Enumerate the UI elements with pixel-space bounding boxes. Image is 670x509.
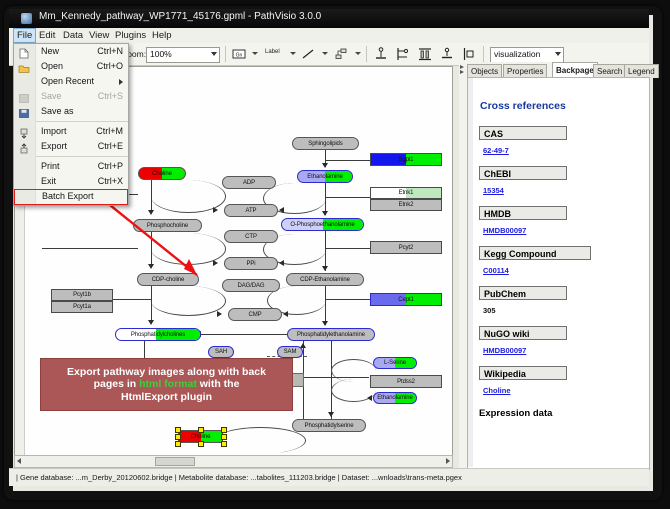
visualization-combo[interactable]: visualization [490,47,564,63]
node-dag[interactable]: DAG/DAG [222,279,280,292]
scroll-right-icon[interactable] [446,458,450,464]
import-icon [18,126,30,137]
tab-backpage[interactable]: Backpage [552,62,598,78]
selection-handle[interactable] [198,441,204,447]
menu-plugins[interactable]: Plugins [112,29,149,42]
selection-handle[interactable] [175,427,181,433]
menu-item-label: Open [41,61,63,71]
gene-pcyt1b[interactable]: Pcyt1b [51,289,113,301]
xref-value-kegg-compound[interactable]: C00114 [483,266,509,275]
gene-pcyt1a[interactable]: Pcyt1a [51,301,113,313]
selection-handle[interactable] [221,434,227,440]
menu-item-import[interactable]: Import Ctrl+M [14,124,128,139]
status-bar: | Gene database: ...m_Derby_20120602.bri… [9,468,649,486]
screenshot-root: Mm_Kennedy_pathway_WP1771_45176.gpml - P… [0,0,670,509]
menu-item-batch-export[interactable]: Batch Export [14,189,128,205]
gene-etnk1[interactable]: Etnk1 [370,187,442,199]
xref-source-kegg-compound: Kegg Compound [479,246,591,260]
xref-value-pubchem: 305 [483,306,496,315]
backpage-panel: Cross references CAS 62-49-7 ChEBI 15354… [467,77,650,470]
common-width-icon[interactable] [461,46,477,62]
menu-item-label: Exit [41,176,56,186]
menu-item-export[interactable]: Export Ctrl+E [14,139,128,154]
node-ethanolamine-top[interactable]: Ethanolamine [297,170,353,183]
export-icon [18,141,30,152]
datanode-icon[interactable]: Gn [231,46,247,62]
save-as-icon [18,106,30,117]
tab-objects[interactable]: Objects [467,64,502,78]
banner-line-2b: with the [197,378,240,390]
menu-item-shortcut: Ctrl+N [97,46,123,56]
node-phosphatidylethanolamine[interactable]: Phosphatidylethanolamine [287,328,375,341]
menu-item-shortcut: Ctrl+P [98,161,123,171]
annotation-banner: Export pathway images along with back pa… [40,358,293,411]
status-text: | Gene database: ...m_Derby_20120602.bri… [16,473,462,482]
selection-handle[interactable] [175,441,181,447]
banner-line-3: HtmlExport plugin [121,391,212,404]
chevron-down-icon [211,52,217,56]
visualization-value: visualization [494,49,540,59]
tab-properties[interactable]: Properties [503,64,547,78]
app-icon [21,13,32,24]
menu-bar: File Edit Data View Plugins Help [9,28,649,44]
gene-cept1[interactable]: Cept1 [370,293,442,306]
scrollbar-thumb[interactable] [155,457,195,466]
banner-html-format: html format [139,378,197,390]
expression-data-heading: Expression data [479,408,552,419]
panel-scroll-rail[interactable] [468,78,473,467]
menu-file[interactable]: File [13,28,36,43]
node-ctp[interactable]: CTP [224,230,278,243]
menu-help[interactable]: Help [149,29,175,42]
node-cdp-ethanolamine[interactable]: CDP-Ethanolamine [286,273,364,286]
xref-source-chebi: ChEBI [479,166,567,180]
xref-source-pubchem: PubChem [479,286,567,300]
menu-separator [35,121,128,122]
file-menu-dropdown[interactable]: New Ctrl+N Open Ctrl+O Open Recent Save … [13,43,129,206]
menu-item-save: Save Ctrl+S [14,89,128,104]
menu-item-label: New [41,46,59,56]
node-atp[interactable]: ATP [224,204,278,217]
selection-handle[interactable] [198,427,204,433]
zoom-value: 100% [150,49,172,59]
window-title: Mm_Kennedy_pathway_WP1771_45176.gpml - P… [39,11,321,22]
menu-item-open-recent[interactable]: Open Recent [14,74,128,89]
menu-item-exit[interactable]: Exit Ctrl+X [14,174,128,189]
chevron-down-icon [555,52,561,56]
new-file-icon [18,46,30,57]
menu-item-label: Open Recent [41,76,94,86]
interaction-icon[interactable] [333,46,349,62]
interaction-dropdown-icon[interactable] [355,52,361,55]
save-icon [18,91,30,102]
side-panel: Objects Properties Backpage Search Legen… [459,62,648,468]
label-dropdown-icon[interactable] [290,52,296,55]
node-sah[interactable]: SAH [208,346,234,358]
xref-value-cas[interactable]: 62-49-7 [483,146,509,155]
line-dropdown-icon[interactable] [322,52,328,55]
node-cdp-choline[interactable]: CDP-choline [137,273,199,286]
node-adp[interactable]: ADP [222,176,276,189]
menu-item-label: Print [41,161,60,171]
tab-legend[interactable]: Legend [624,64,659,78]
gene-etnk2[interactable]: Etnk2 [370,199,442,211]
menu-item-shortcut: Ctrl+S [98,91,123,101]
zoom-combo[interactable]: 100% [146,47,220,63]
gene-pcyt2[interactable]: Pcyt2 [370,241,442,254]
selection-handle[interactable] [221,441,227,447]
menu-item-label: Batch Export [42,191,94,201]
align-left-icon[interactable] [395,46,411,62]
menu-separator [35,156,128,157]
distribute-horizontal-icon[interactable] [439,46,455,62]
line-icon[interactable] [300,46,316,62]
banner-line-2a: pages in [94,378,140,390]
svg-text:Gn: Gn [236,53,243,59]
node-ppi[interactable]: PPi [224,257,278,270]
node-sphingolipids[interactable]: Sphingolipids [292,137,359,150]
scroll-left-icon[interactable] [17,458,21,464]
label-button-text[interactable]: Label [265,49,280,55]
datanode-dropdown-icon[interactable] [252,52,258,55]
menu-edit[interactable]: Edit [36,29,58,42]
panel-tabs: Objects Properties Backpage Search Legen… [459,62,648,77]
node-o-phosphoethanolamine[interactable]: O-Phosphoethanolamine [281,218,364,231]
gene-ptdss2[interactable]: Ptdss2 [370,375,442,388]
stack-vertical-icon[interactable] [417,46,433,62]
menu-item-shortcut: Ctrl+O [97,61,123,71]
selection-handle[interactable] [221,427,227,433]
title-bar: Mm_Kennedy_pathway_WP1771_45176.gpml - P… [9,9,649,28]
menu-item-shortcut: Ctrl+M [96,126,123,136]
open-folder-icon [18,61,30,72]
menu-item-label: Save [41,91,62,101]
menu-item-save-as[interactable]: Save as [14,104,128,119]
submenu-arrow-icon [119,79,123,85]
xref-value-nugo-wiki[interactable]: HMDB00097 [483,346,526,355]
gene-sgpl1[interactable]: Sgpl1 [370,153,442,166]
menu-item-label: Import [41,126,67,136]
canvas-horizontal-scrollbar[interactable] [14,455,453,468]
xref-source-wikipedia: Wikipedia [479,366,567,380]
menu-item-new[interactable]: New Ctrl+N [14,44,128,59]
xref-source-hmdb: HMDB [479,206,567,220]
node-phosphocholine[interactable]: Phosphocholine [133,219,202,232]
node-l-serine[interactable]: L-Serine [373,357,417,369]
xref-value-chebi[interactable]: 15354 [483,186,504,195]
node-cmp[interactable]: CMP [228,308,282,321]
node-phosphatidylserine[interactable]: Phosphatidylserine [292,419,366,432]
menu-item-label: Export [41,141,67,151]
menu-item-label: Save as [41,106,74,116]
xref-value-wikipedia[interactable]: Choline [483,386,511,395]
menu-item-print[interactable]: Print Ctrl+P [14,159,128,174]
xref-source-cas: CAS [479,126,567,140]
node-ethanolamine-bottom[interactable]: Ethanolamine [373,392,417,404]
banner-line-2: pages in html format with the [94,378,240,391]
tab-search[interactable]: Search [593,64,626,78]
xref-source-nugo-wiki: NuGO wiki [479,326,567,340]
menu-item-shortcut: Ctrl+E [98,141,123,151]
node-choline-top[interactable]: Choline [138,167,186,180]
node-sam[interactable]: SAM [277,346,303,358]
banner-line-1: Export pathway images along with back [67,366,266,379]
menu-item-shortcut: Ctrl+X [98,176,123,186]
xref-value-hmdb[interactable]: HMDB00097 [483,226,526,235]
menu-item-open[interactable]: Open Ctrl+O [14,59,128,74]
align-top-icon[interactable] [373,46,389,62]
menu-data[interactable]: Data [60,29,86,42]
node-phosphatidylcholines[interactable]: Phosphatidylcholines [115,328,201,341]
cross-references-title: Cross references [480,100,566,112]
menu-view[interactable]: View [86,29,112,42]
selection-handle[interactable] [175,434,181,440]
